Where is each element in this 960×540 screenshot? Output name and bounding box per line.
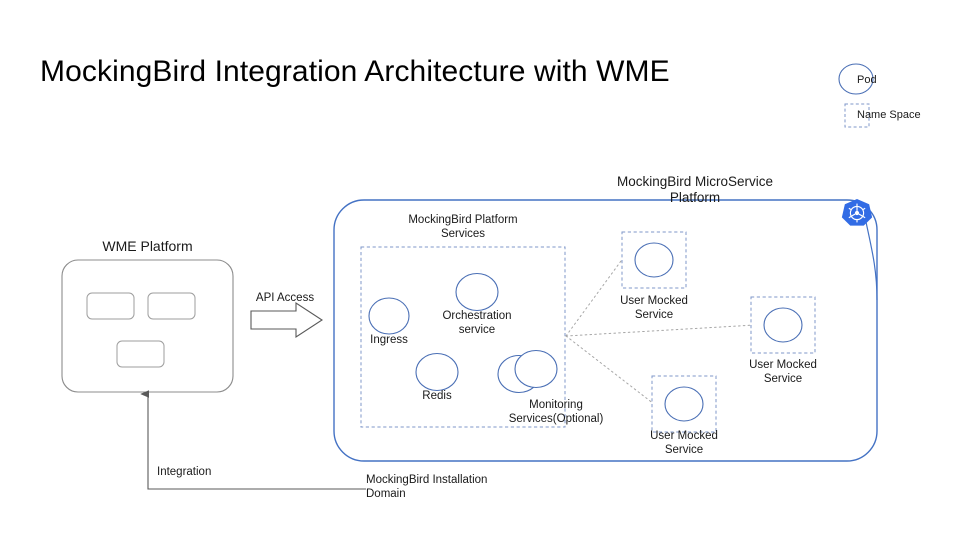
pod-label-orchestration-service: Orchestration service: [417, 309, 537, 337]
pod-monitoring-services-icon-front[interactable]: [515, 351, 557, 388]
pod-user-mocked-service-2-icon[interactable]: [764, 308, 802, 342]
pod-orchestration-service-icon[interactable]: [456, 274, 498, 311]
api-access-label: API Access: [236, 291, 334, 305]
wme-inner-block-3[interactable]: [117, 341, 164, 367]
pod-ingress-icon[interactable]: [369, 298, 409, 334]
diagram-canvas: MockingBird Integration Architecture wit…: [0, 0, 960, 540]
legend-pod-label: Pod: [857, 74, 877, 86]
diagram-vector-layer: [0, 0, 960, 540]
pod-user-mocked-service-1-icon[interactable]: [635, 243, 673, 277]
api-access-arrow-icon: [251, 303, 322, 337]
legend-namespace-label: Name Space: [857, 109, 921, 121]
wme-inner-block-2[interactable]: [148, 293, 195, 319]
installation-domain-label: MockingBird Installation Domain: [366, 473, 556, 501]
user-mocked-service-label-3: User Mocked Service: [629, 429, 739, 457]
pod-label-redis: Redis: [402, 389, 472, 403]
pod-label-ingress: Ingress: [354, 333, 424, 347]
microservice-platform-title: MockingBird MicroService Platform: [575, 174, 815, 207]
user-mocked-service-label-1: User Mocked Service: [599, 294, 709, 322]
user-mocked-service-label-2: User Mocked Service: [728, 358, 838, 386]
integration-label: Integration: [157, 465, 267, 479]
wme-platform-box[interactable]: [62, 260, 233, 392]
platform-services-title: MockingBird Platform Services: [373, 213, 553, 241]
wme-platform-title: WME Platform: [62, 238, 233, 255]
pod-label-monitoring-services: Monitoring Services(Optional): [466, 398, 646, 426]
wme-inner-block-1[interactable]: [87, 293, 134, 319]
pod-user-mocked-service-3-icon[interactable]: [665, 387, 703, 421]
pod-redis-icon[interactable]: [416, 354, 458, 391]
